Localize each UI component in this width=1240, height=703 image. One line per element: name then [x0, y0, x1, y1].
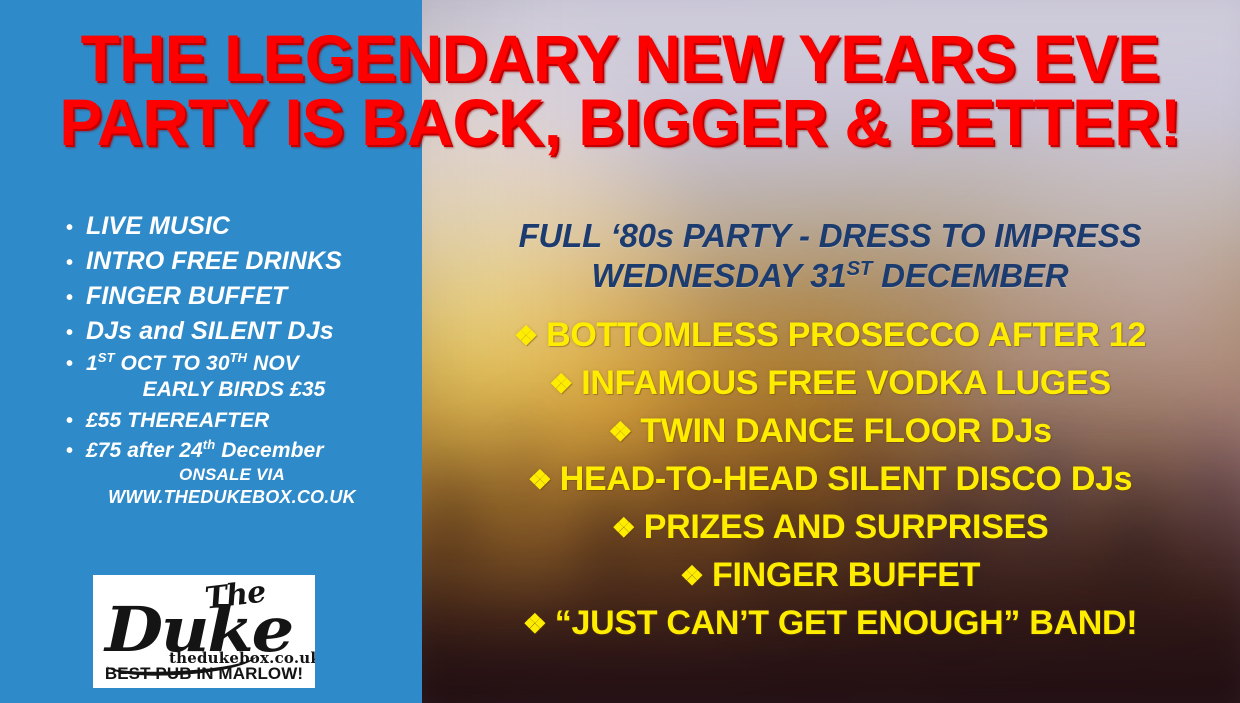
diamond-bullet-icon: ❖ [612, 514, 636, 541]
diamond-bullet-icon: ❖ [549, 370, 573, 397]
feature-item-label: INFAMOUS FREE VODKA LUGES [581, 364, 1111, 402]
nye-party-poster: THE LEGENDARY NEW YEARS EVE PARTY IS BAC… [0, 0, 1240, 703]
bullet-dot-icon: • [52, 218, 86, 238]
bullet-dot-icon: • [52, 323, 86, 343]
feature-item-label: BOTTOMLESS PROSECCO AFTER 12 [546, 316, 1146, 354]
list-item-label: LIVE MUSIC [86, 212, 230, 240]
early-bird-date-range: 1ST OCT TO 30TH NOV [86, 352, 299, 376]
date-suffix: NOV [247, 352, 299, 375]
date-mid: OCT TO 30 [115, 352, 230, 375]
thereafter-price-label: £55 THEREAFTER [86, 409, 269, 433]
offer-list: • LIVE MUSIC • INTRO FREE DRINKS • FINGE… [52, 212, 402, 508]
feature-item-label: PRIZES AND SURPRISES [644, 508, 1049, 546]
headline-line-1: THE LEGENDARY NEW YEARS EVE [19, 26, 1222, 90]
diamond-bullet-icon: ❖ [680, 562, 704, 589]
early-bird-price: EARLY BIRDS £35 [66, 378, 402, 402]
feature-item: ❖BOTTOMLESS PROSECCO AFTER 12 [430, 318, 1230, 352]
bullet-dot-icon: • [52, 411, 86, 431]
list-item-early-bird-dates: • 1ST OCT TO 30TH NOV [52, 352, 402, 376]
list-item: • FINGER BUFFET [52, 282, 402, 310]
event-subheading: FULL ‘80s PARTY - DRESS TO IMPRESS WEDNE… [430, 216, 1230, 297]
feature-item: ❖PRIZES AND SURPRISES [430, 510, 1230, 544]
diamond-bullet-icon: ❖ [514, 322, 538, 349]
onsale-label: ONSALE VIA [62, 465, 402, 485]
late-price-suffix: December [215, 439, 323, 462]
bullet-dot-icon: • [52, 441, 86, 461]
page-title: THE LEGENDARY NEW YEARS EVE PARTY IS BAC… [19, 26, 1222, 154]
list-item: • INTRO FREE DRINKS [52, 247, 402, 275]
feature-item: ❖HEAD-TO-HEAD SILENT DISCO DJs [430, 462, 1230, 496]
feature-item-label: TWIN DANCE FLOOR DJs [640, 412, 1051, 450]
late-price-prefix: £75 after 24 [86, 439, 203, 462]
list-item-thereafter-price: • £55 THEREAFTER [52, 409, 402, 433]
list-item: • LIVE MUSIC [52, 212, 402, 240]
date-sup-st: ST [98, 350, 115, 365]
feature-item-label: HEAD-TO-HEAD SILENT DISCO DJs [560, 460, 1133, 498]
feature-list: ❖BOTTOMLESS PROSECCO AFTER 12 ❖INFAMOUS … [430, 318, 1230, 654]
feature-item-label: FINGER BUFFET [712, 556, 980, 594]
logo-tagline: BEST PUB IN MARLOW! [93, 664, 315, 684]
list-item-label: INTRO FREE DRINKS [86, 247, 342, 275]
late-price-label: £75 after 24th December [86, 439, 324, 463]
bullet-dot-icon: • [52, 253, 86, 273]
subheading-dress-code: FULL ‘80s PARTY - DRESS TO IMPRESS [430, 216, 1230, 256]
diamond-bullet-icon: ❖ [523, 610, 547, 637]
the-duke-logo: The Duke thedukebox.co.uk BEST PUB IN MA… [93, 575, 315, 688]
list-item-late-price: • £75 after 24th December [52, 439, 402, 463]
date-prefix: 1 [86, 352, 98, 375]
event-date-sup-st: ST [847, 257, 873, 280]
list-item: • DJs and SILENT DJs [52, 317, 402, 345]
list-item-label: DJs and SILENT DJs [86, 317, 334, 345]
diamond-bullet-icon: ❖ [528, 466, 552, 493]
onsale-url[interactable]: WWW.THEDUKEBOX.CO.UK [62, 487, 402, 508]
feature-item: ❖TWIN DANCE FLOOR DJs [430, 414, 1230, 448]
event-date-prefix: WEDNESDAY 31 [592, 257, 847, 294]
feature-item: ❖INFAMOUS FREE VODKA LUGES [430, 366, 1230, 400]
headline-line-2: PARTY IS BACK, BIGGER & BETTER! [19, 90, 1222, 154]
feature-item: ❖“JUST CAN’T GET ENOUGH” BAND! [430, 606, 1230, 640]
bullet-dot-icon: • [52, 354, 86, 374]
feature-item: ❖FINGER BUFFET [430, 558, 1230, 592]
diamond-bullet-icon: ❖ [608, 418, 632, 445]
bullet-dot-icon: • [52, 288, 86, 308]
event-date-suffix: DECEMBER [872, 257, 1068, 294]
subheading-event-date: WEDNESDAY 31ST DECEMBER [430, 256, 1230, 296]
date-sup-th: TH [230, 350, 248, 365]
late-price-sup-th: th [203, 437, 216, 452]
feature-item-label: “JUST CAN’T GET ENOUGH” BAND! [555, 604, 1138, 642]
list-item-label: FINGER BUFFET [86, 282, 287, 310]
